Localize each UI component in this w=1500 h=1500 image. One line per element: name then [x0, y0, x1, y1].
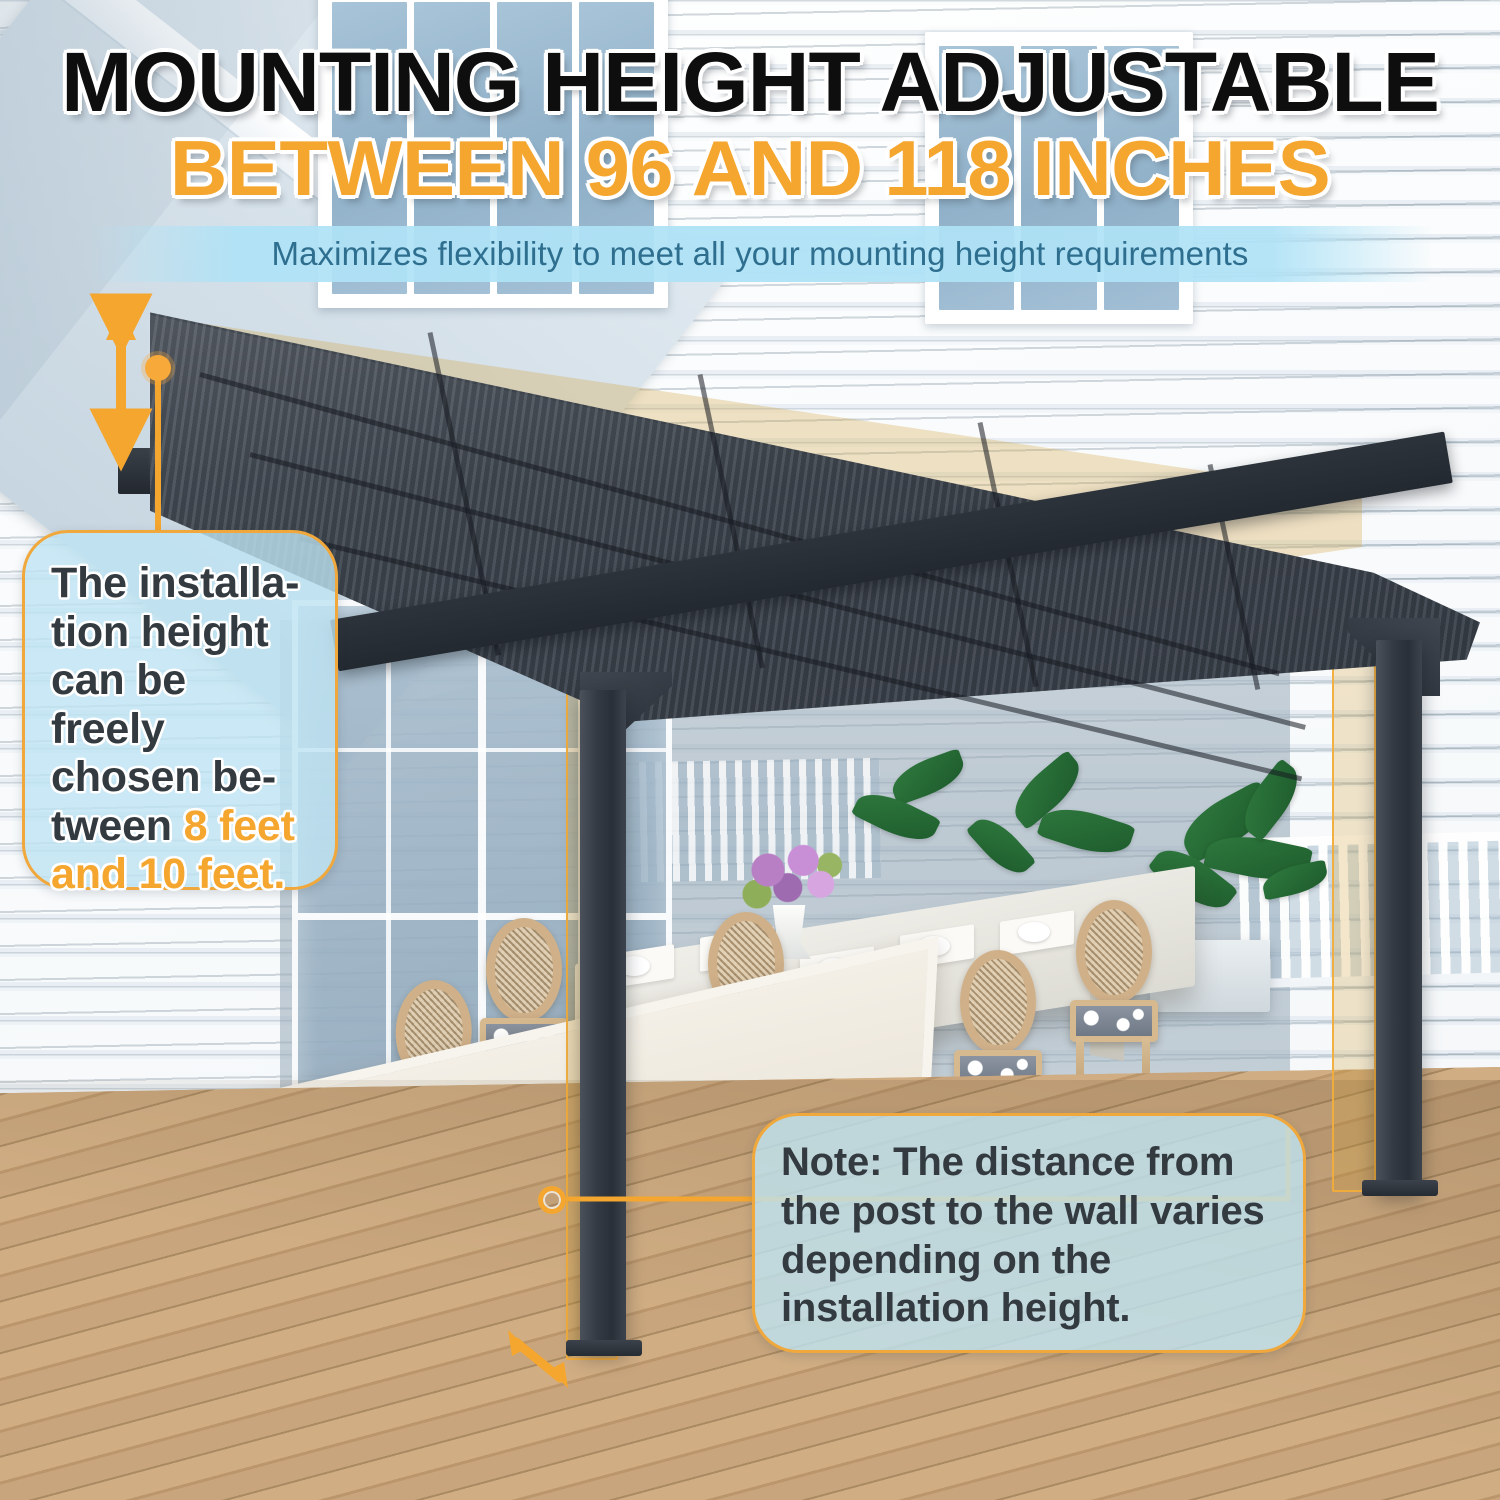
post-foot-left [566, 1340, 642, 1356]
gazebo-post-front-left [580, 690, 626, 1350]
headline-block: MOUNTING HEIGHT ADJUSTABLE BETWEEN 96 AN… [0, 0, 1500, 207]
subtitle-text: Maximizes flexibility to meet all your m… [88, 226, 1432, 282]
flower-bouquet [735, 838, 845, 918]
gazebo-post-front-right [1376, 640, 1422, 1192]
ghost-post-right [1332, 592, 1376, 1192]
page-subtitle-accent: BETWEEN 96 AND 118 INCHES [0, 129, 1500, 207]
product-scene-photo [0, 0, 1500, 1500]
dining-chair [1068, 900, 1160, 1100]
post-foot-right [1362, 1180, 1438, 1196]
page-title: MOUNTING HEIGHT ADJUSTABLE [0, 42, 1500, 123]
subtitle-band: Maximizes flexibility to meet all your m… [88, 226, 1432, 282]
deck-shadow [0, 1080, 1500, 1500]
infographic-canvas: MOUNTING HEIGHT ADJUSTABLE BETWEEN 96 AN… [0, 0, 1500, 1500]
